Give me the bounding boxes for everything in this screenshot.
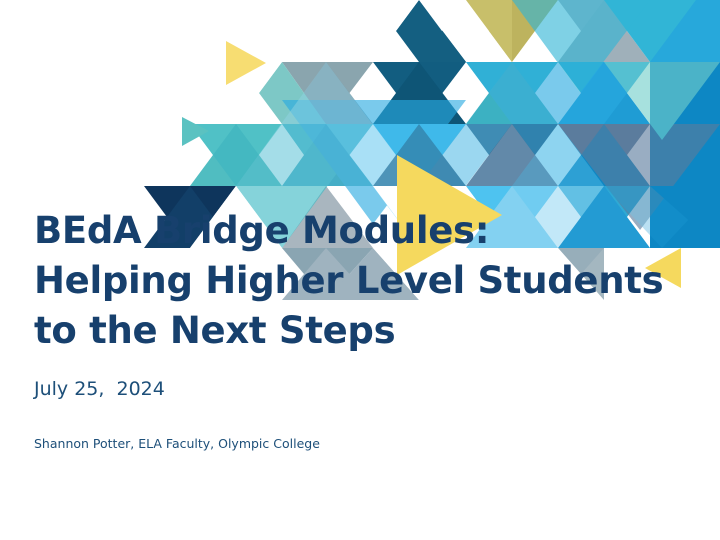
- mosaic-triangle: [558, 62, 650, 124]
- white-cut: [190, 0, 282, 62]
- mosaic-triangle: [558, 62, 650, 124]
- white-cut: [326, 0, 419, 62]
- mosaic-triangle: [558, 124, 650, 186]
- mosaic-triangle: [558, 0, 650, 62]
- mosaic-overlay-triangle: [190, 124, 282, 186]
- page-title: BEdA Bridge Modules: Helping Higher Leve…: [34, 206, 694, 356]
- mosaic-triangle: [466, 124, 558, 186]
- mosaic-triangle: [512, 0, 604, 62]
- mosaic-triangle: [419, 0, 512, 62]
- mosaic-triangle: [282, 124, 373, 186]
- mosaic-triangle: [466, 0, 558, 62]
- mosaic-overlay-triangle: [466, 62, 650, 186]
- mosaic-triangle: [604, 0, 696, 62]
- slide-author: Shannon Potter, ELA Faculty, Olympic Col…: [34, 401, 694, 452]
- mosaic-overlay-triangle: [236, 62, 419, 186]
- white-cut: [236, 0, 326, 62]
- mosaic-triangle: [282, 124, 373, 186]
- mosaic-triangle: [282, 62, 373, 124]
- mosaic-triangle: [190, 62, 282, 124]
- mosaic-triangle: [282, 0, 326, 62]
- mosaic-triangle: [190, 124, 282, 186]
- presentation-slide: BEdA Bridge Modules: Helping Higher Leve…: [0, 0, 720, 540]
- mosaic-triangle: [236, 62, 326, 124]
- mosaic-triangle: [650, 0, 720, 62]
- mosaic-triangle: [512, 0, 558, 62]
- mosaic-triangle: [282, 62, 373, 124]
- white-cut: [419, 0, 466, 31]
- mosaic-triangle: [466, 124, 558, 186]
- mosaic-overlay-triangle: [419, 62, 604, 186]
- small-teal-arrow-icon: [182, 117, 209, 146]
- mosaic-triangle: [373, 62, 466, 124]
- mosaic-triangle: [650, 124, 720, 186]
- mosaic-triangle: [373, 62, 466, 124]
- mosaic-triangle: [373, 0, 466, 62]
- mosaic-triangle: [466, 62, 558, 124]
- mosaic-triangle: [558, 0, 650, 62]
- mosaic-triangle: [373, 124, 466, 186]
- mosaic-overlay-triangle: [512, 0, 650, 93]
- mosaic-triangle: [373, 0, 466, 62]
- mosaic-triangle: [650, 62, 720, 124]
- slide-text-block: BEdA Bridge Modules: Helping Higher Leve…: [34, 206, 694, 452]
- white-cut: [144, 124, 190, 186]
- white-cut: [0, 0, 190, 124]
- mosaic-triangle: [466, 62, 558, 124]
- olive-accent-triangle: [466, 0, 512, 62]
- mosaic-triangle: [373, 124, 466, 186]
- mosaic-triangle: [558, 124, 650, 186]
- mosaic-overlay-triangle: [604, 62, 720, 140]
- white-cut: [190, 62, 282, 124]
- mosaic-triangle: [190, 124, 282, 186]
- small-yellow-arrow-icon: [226, 41, 266, 85]
- slide-date: July 25, 2024: [34, 356, 694, 401]
- mosaic-triangle: [326, 0, 419, 62]
